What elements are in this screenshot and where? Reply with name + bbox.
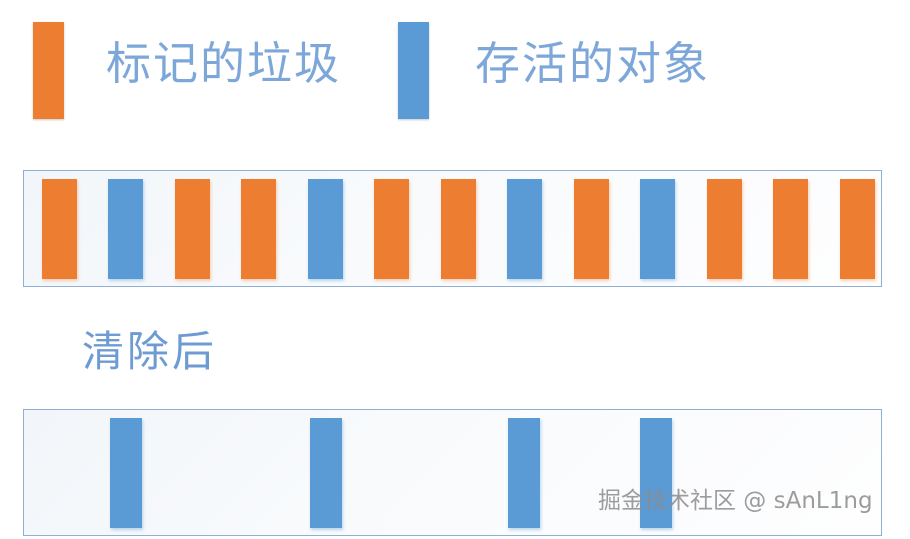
heap-before-sweep (23, 170, 882, 287)
legend-label-alive: 存活的对象 (475, 36, 710, 92)
heap-bar-garbage (374, 179, 409, 279)
legend-label-garbage: 标记的垃圾 (106, 36, 341, 92)
heap-bar-garbage (42, 179, 77, 279)
heap-bar-alive (640, 179, 675, 279)
watermark: 掘金技术社区 @ sAnL1ng (598, 487, 873, 515)
heap-bar-alive (110, 418, 142, 528)
blue-swatch (398, 22, 429, 119)
heap-bar-alive (310, 418, 342, 528)
heap-after-sweep (23, 409, 882, 536)
heap-bar-alive (308, 179, 343, 279)
heap-bar-alive (508, 418, 540, 528)
heap-bar-alive (507, 179, 542, 279)
heap-bar-garbage (175, 179, 210, 279)
heap-bar-garbage (840, 179, 875, 279)
heap-bar-garbage (574, 179, 609, 279)
heap-bar-garbage (241, 179, 276, 279)
orange-swatch (33, 22, 64, 119)
after-sweep-caption: 清除后 (82, 326, 217, 378)
heap-bar-garbage (707, 179, 742, 279)
heap-bar-garbage (773, 179, 808, 279)
heap-bar-alive (108, 179, 143, 279)
heap-bar-garbage (441, 179, 476, 279)
legend: 标记的垃圾 存活的对象 (0, 0, 910, 140)
